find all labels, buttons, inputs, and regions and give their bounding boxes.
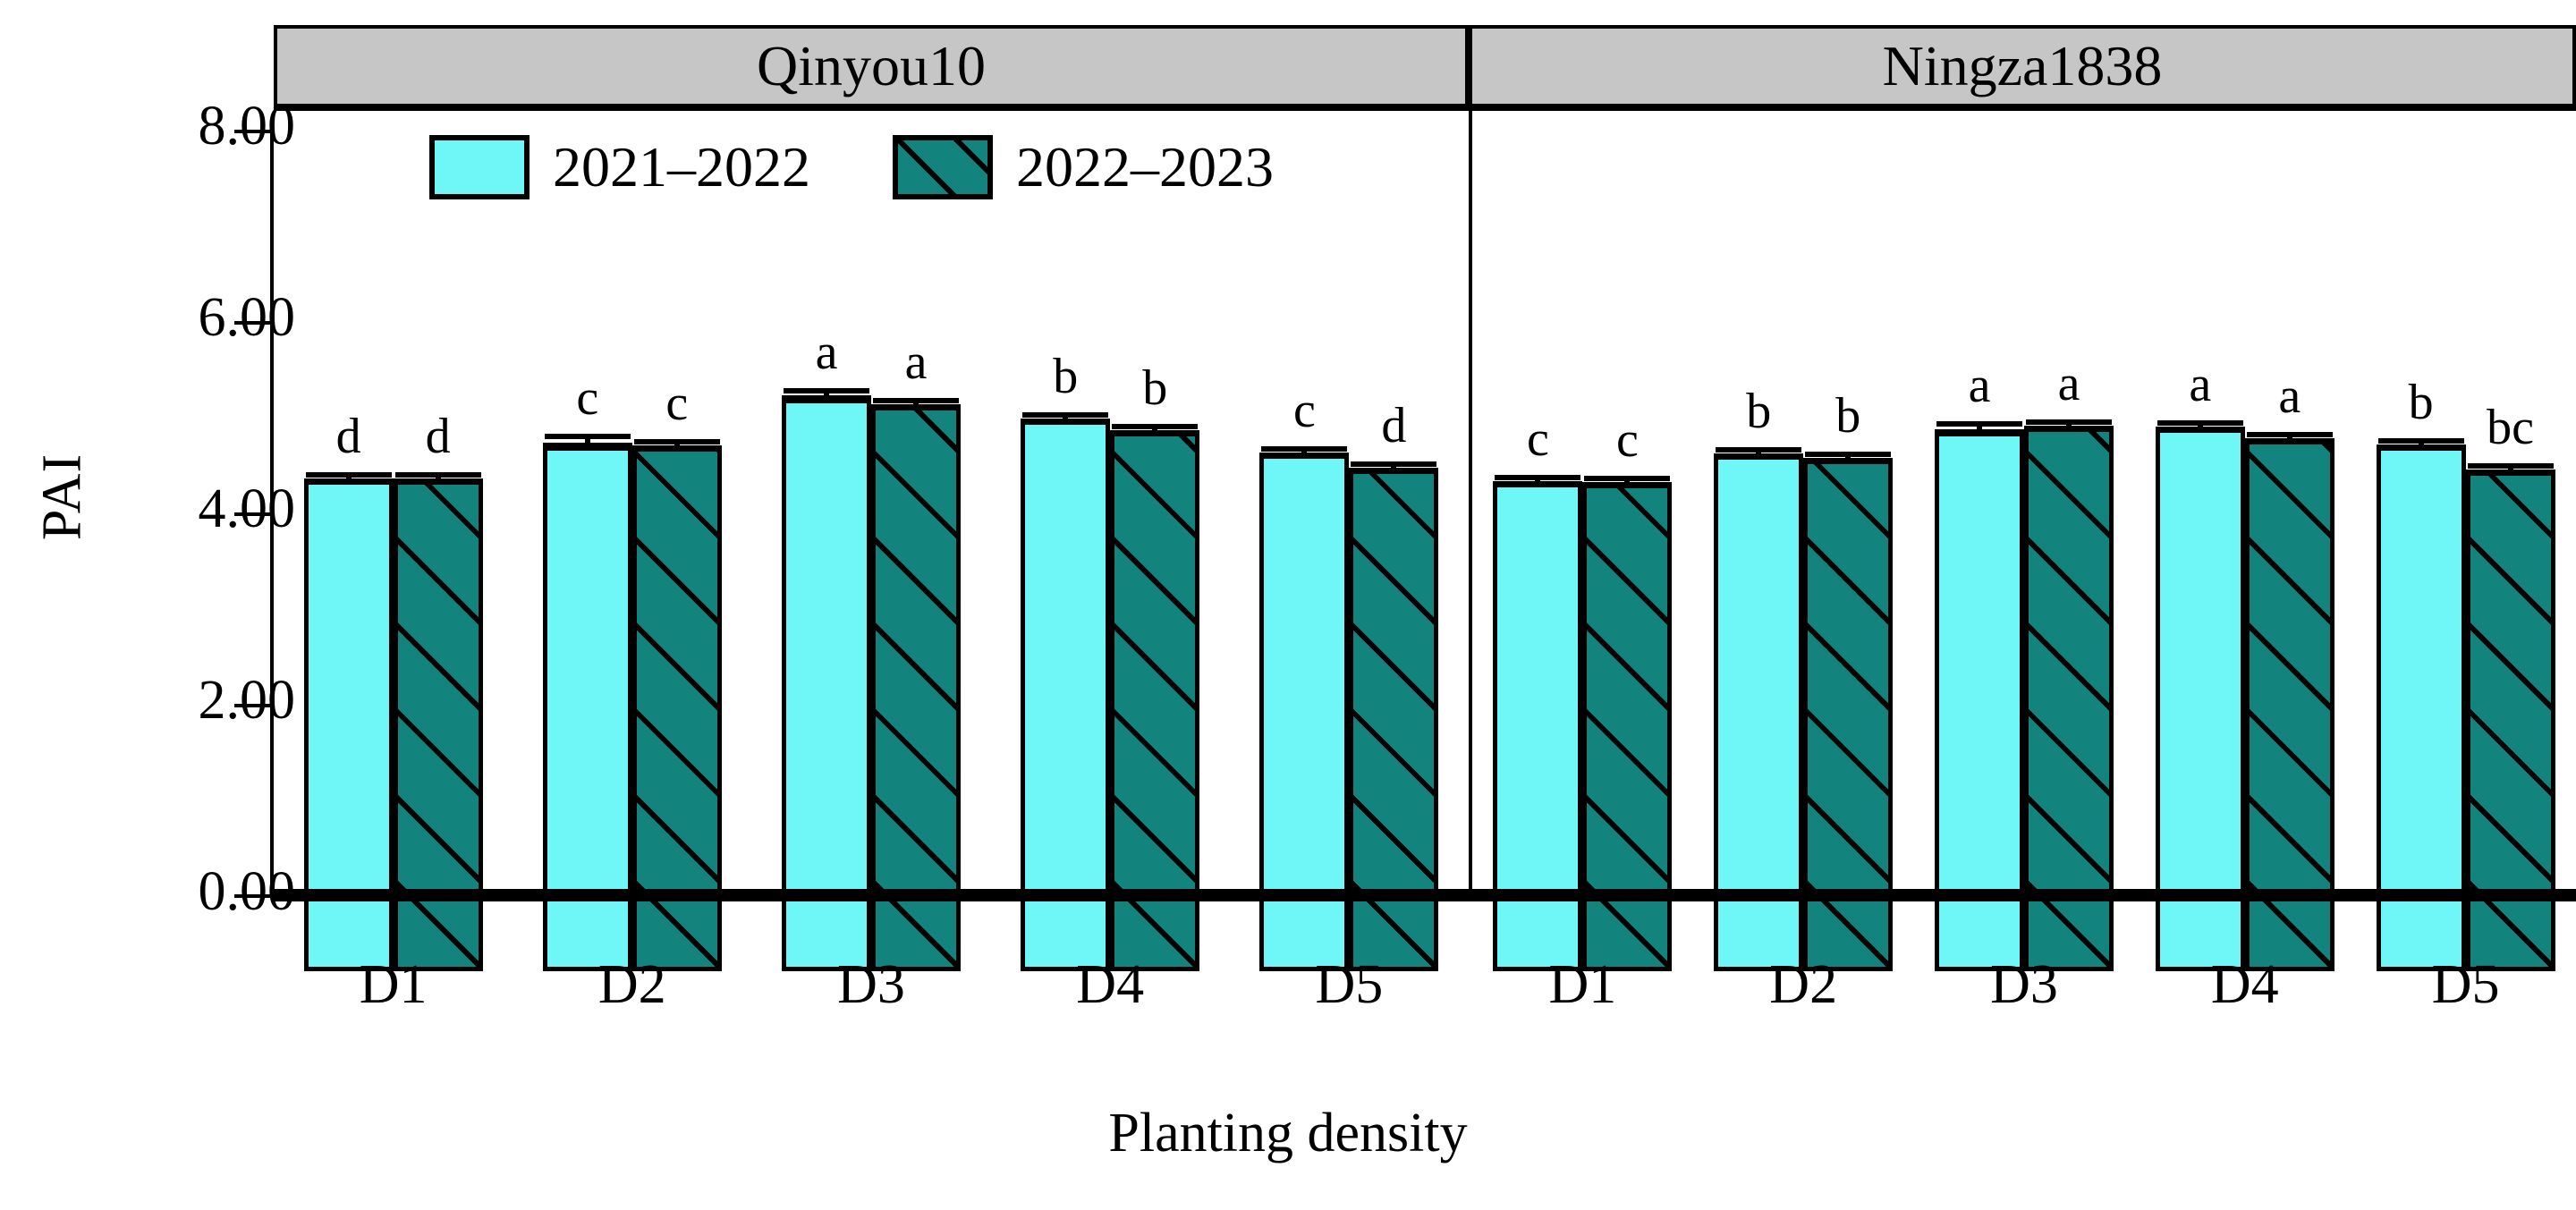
x-tick-mark (394, 919, 397, 941)
x-tick-mark (1110, 919, 1114, 941)
x-tick-label-qinyou10-d1: D1 (304, 957, 483, 1012)
significance-letter: b (1053, 351, 1078, 402)
significance-letter: a (905, 337, 928, 387)
y-tick-label-0: 0.00 (80, 864, 295, 919)
error-cap-top (395, 472, 481, 478)
error-bar (2066, 419, 2072, 432)
plot-area: ddccaabbcdccbbaaaabbc (274, 107, 2576, 896)
y-tick-mark (234, 321, 272, 325)
error-bar (2508, 463, 2513, 476)
error-cap-bottom (1584, 483, 1670, 488)
error-cap-bottom (395, 479, 481, 485)
error-bar (2287, 432, 2292, 444)
x-tick-mark (1349, 919, 1352, 941)
y-tick-label-8: 8.00 (80, 98, 295, 154)
error-bar (2198, 420, 2203, 433)
x-tick-label-qinyou10-d4: D4 (1021, 957, 1199, 1012)
error-bar (436, 472, 441, 485)
x-tick-mark (2024, 919, 2028, 941)
error-cap-top (1805, 452, 1891, 457)
y-tick-mark (234, 704, 272, 707)
x-tick-label-qinyou10-d5: D5 (1259, 957, 1438, 1012)
x-tick-label-qinyou10-d2: D2 (543, 957, 722, 1012)
significance-letter: b (1746, 386, 1771, 436)
significance-letter: b (2409, 377, 2434, 427)
x-tick-mark (871, 919, 875, 941)
error-cap-bottom (545, 445, 631, 451)
significance-letter: c (1527, 414, 1549, 464)
y-tick-label-2: 2.00 (80, 673, 295, 728)
y-tick-mark (234, 894, 272, 898)
error-bar (585, 434, 590, 451)
panel-strip-ningza1838: Ningza1838 (1469, 25, 2576, 107)
error-cap-top (2157, 420, 2243, 426)
legend-label-2022-2023: 2022–2023 (1016, 134, 1274, 200)
x-tick-mark (2245, 919, 2249, 941)
significance-letter: c (1293, 385, 1316, 436)
error-cap-top (2468, 463, 2554, 469)
x-tick-mark (632, 919, 636, 941)
x-axis: D1D2D3D4D5D1D2D3D4D5 (274, 919, 2576, 1027)
bar-group-ningza1838-d3: aa (1935, 107, 2114, 896)
error-cap-top (1112, 424, 1198, 429)
significance-letter: d (1381, 401, 1406, 451)
legend-label-2021-2022: 2021–2022 (553, 134, 810, 200)
bar-group-qinyou10-d5: cd (1259, 107, 1438, 896)
x-tick-label-ningza1838-d4: D4 (2156, 957, 2334, 1012)
error-cap-top (1495, 475, 1580, 480)
error-cap-top (545, 434, 631, 439)
error-cap-top (2247, 432, 2333, 437)
error-cap-bottom (306, 479, 392, 485)
error-cap-top (1936, 421, 2022, 427)
error-cap-top (2026, 419, 2112, 425)
error-cap-bottom (1936, 431, 2022, 436)
legend: 2021–2022 2022–2023 (429, 134, 1274, 200)
significance-letter: b (1142, 363, 1167, 413)
error-bar (1756, 447, 1761, 460)
x-tick-label-ningza1838-d1: D1 (1493, 957, 1672, 1012)
error-cap-top (634, 439, 720, 444)
x-tick-label-ningza1838-d2: D2 (1714, 957, 1893, 1012)
error-cap-top (1261, 446, 1347, 452)
bar-group-ningza1838-d2: bb (1714, 107, 1893, 896)
x-tick-mark (2466, 919, 2470, 941)
error-cap-bottom (2378, 445, 2464, 451)
error-cap-bottom (873, 405, 959, 410)
significance-letter: c (1616, 415, 1639, 465)
y-tick-label-4: 4.00 (80, 481, 295, 537)
error-cap-top (784, 388, 869, 393)
error-bar (1535, 475, 1540, 487)
significance-letter: b (1835, 391, 1860, 441)
error-bar (1391, 461, 1396, 474)
error-cap-bottom (1495, 482, 1580, 487)
error-cap-bottom (1022, 419, 1108, 425)
error-bar (1063, 412, 1068, 425)
error-bar (674, 439, 680, 452)
significance-letter: d (426, 411, 451, 461)
x-tick-label-qinyou10-d3: D3 (782, 957, 961, 1012)
bar-group-qinyou10-d2: cc (543, 107, 722, 896)
error-cap-bottom (1716, 454, 1801, 460)
error-cap-top (2378, 438, 2464, 444)
y-tick-mark (234, 512, 272, 516)
significance-letter: bc (2487, 402, 2534, 453)
bar-group-qinyou10-d1: dd (304, 107, 483, 896)
error-cap-top (1584, 476, 1670, 481)
figure: PAI 8.00 6.00 4.00 2.00 0.00 Qinyou10 Ni… (0, 0, 2576, 1210)
significance-letter: a (2278, 371, 2301, 421)
error-cap-top (306, 472, 392, 478)
x-tick-label-ningza1838-d3: D3 (1935, 957, 2114, 1012)
bar-group-qinyou10-d3: aa (782, 107, 961, 896)
bar-group-ningza1838-d1: cc (1493, 107, 1672, 896)
error-cap-top (1022, 412, 1108, 418)
error-cap-top (1716, 447, 1801, 453)
bar-group-qinyou10-d4: bb (1021, 107, 1199, 896)
legend-swatch-2021-2022 (429, 135, 530, 199)
significance-letter: a (816, 327, 838, 377)
error-cap-top (873, 398, 959, 403)
x-tick-label-ningza1838-d5: D5 (2377, 957, 2555, 1012)
error-bar (1301, 446, 1307, 459)
y-tick-label-6: 6.00 (80, 290, 295, 345)
y-tick-mark (234, 130, 272, 133)
panel-title-right: Ningza1838 (1883, 33, 2163, 99)
significance-letter: a (1969, 360, 1991, 410)
bar-2021-2022-d3[interactable] (782, 395, 871, 971)
bar-2022-2023-d3[interactable] (871, 404, 961, 971)
bar-group-ningza1838-d4: aa (2156, 107, 2334, 896)
error-cap-bottom (1805, 459, 1891, 464)
x-tick-mark (1582, 919, 1586, 941)
panel-title-left: Qinyou10 (757, 33, 986, 99)
error-cap-bottom (2247, 439, 2333, 444)
error-bar (1152, 424, 1157, 436)
error-bar (2419, 438, 2424, 451)
error-cap-bottom (1112, 431, 1198, 436)
significance-letter: c (665, 378, 688, 428)
error-cap-bottom (1261, 453, 1347, 459)
significance-letter: c (576, 373, 598, 423)
error-bar (824, 388, 829, 403)
error-cap-top (1351, 461, 1436, 467)
error-bar (1845, 452, 1851, 464)
significance-letter: d (336, 411, 361, 461)
error-bar (1624, 476, 1630, 488)
error-bar (913, 398, 919, 410)
error-cap-bottom (1351, 469, 1436, 474)
error-bar (1977, 421, 1982, 436)
panel-strip-qinyou10: Qinyou10 (274, 25, 1469, 107)
error-bar (346, 472, 352, 485)
x-axis-baseline (274, 889, 2576, 901)
bar-group-ningza1838-d5: bbc (2377, 107, 2555, 896)
error-cap-bottom (2026, 427, 2112, 432)
significance-letter: a (2058, 359, 2080, 409)
error-cap-bottom (634, 446, 720, 452)
x-axis-title: Planting density (0, 1102, 2576, 1165)
error-cap-bottom (784, 398, 869, 403)
error-cap-bottom (2468, 470, 2554, 476)
significance-letter: a (2189, 360, 2211, 410)
y-axis: PAI 8.00 6.00 4.00 2.00 0.00 (0, 0, 295, 1210)
legend-swatch-2022-2023 (893, 135, 993, 199)
x-tick-mark (1803, 919, 1807, 941)
error-cap-bottom (2157, 427, 2243, 433)
